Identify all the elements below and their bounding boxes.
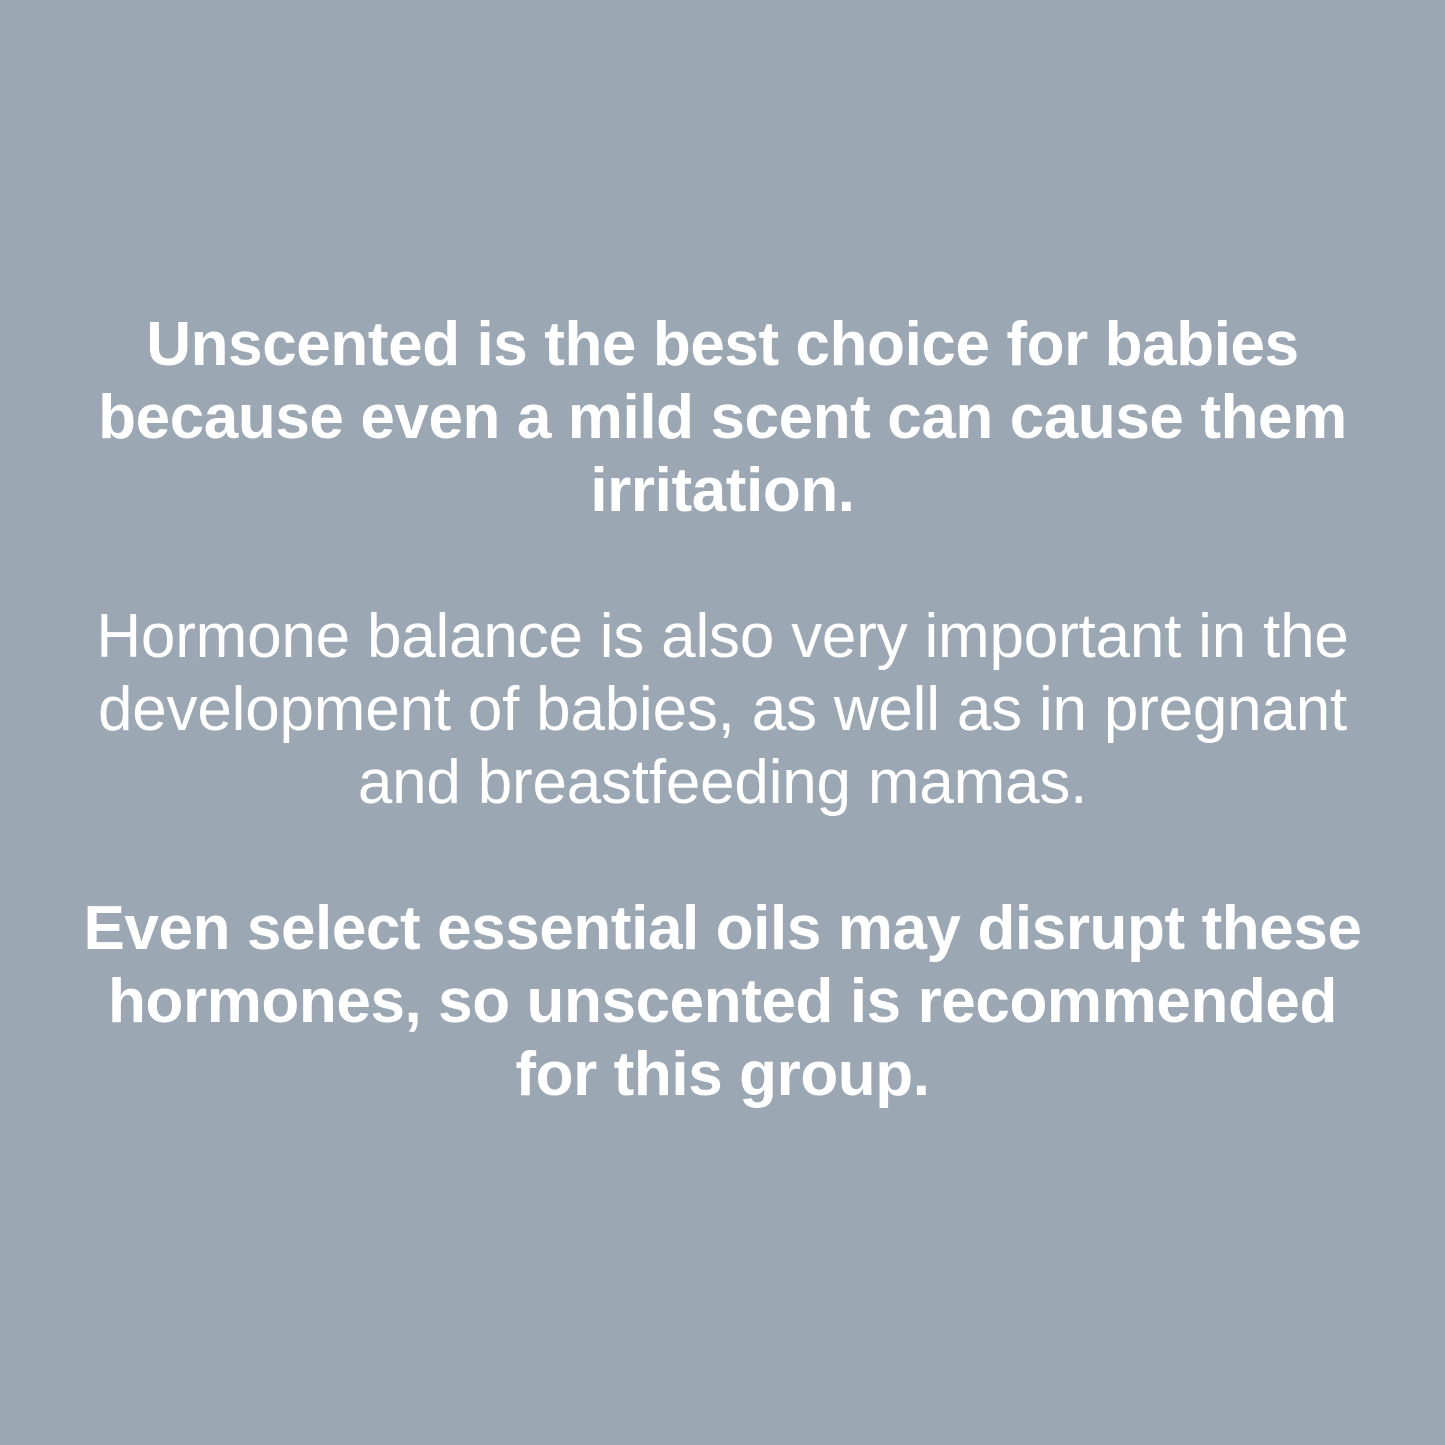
paragraph-unscented-best-choice: Unscented is the best choice for babies … xyxy=(62,308,1383,527)
paragraph-spacer-1 xyxy=(62,527,1383,600)
paragraph-hormone-balance: Hormone balance is also very important i… xyxy=(62,600,1383,819)
paragraph-essential-oils: Even select essential oils may disrupt t… xyxy=(62,892,1383,1111)
info-card-canvas: Unscented is the best choice for babies … xyxy=(0,0,1445,1445)
text-content-block: Unscented is the best choice for babies … xyxy=(0,308,1445,1111)
paragraph-spacer-2 xyxy=(62,819,1383,892)
